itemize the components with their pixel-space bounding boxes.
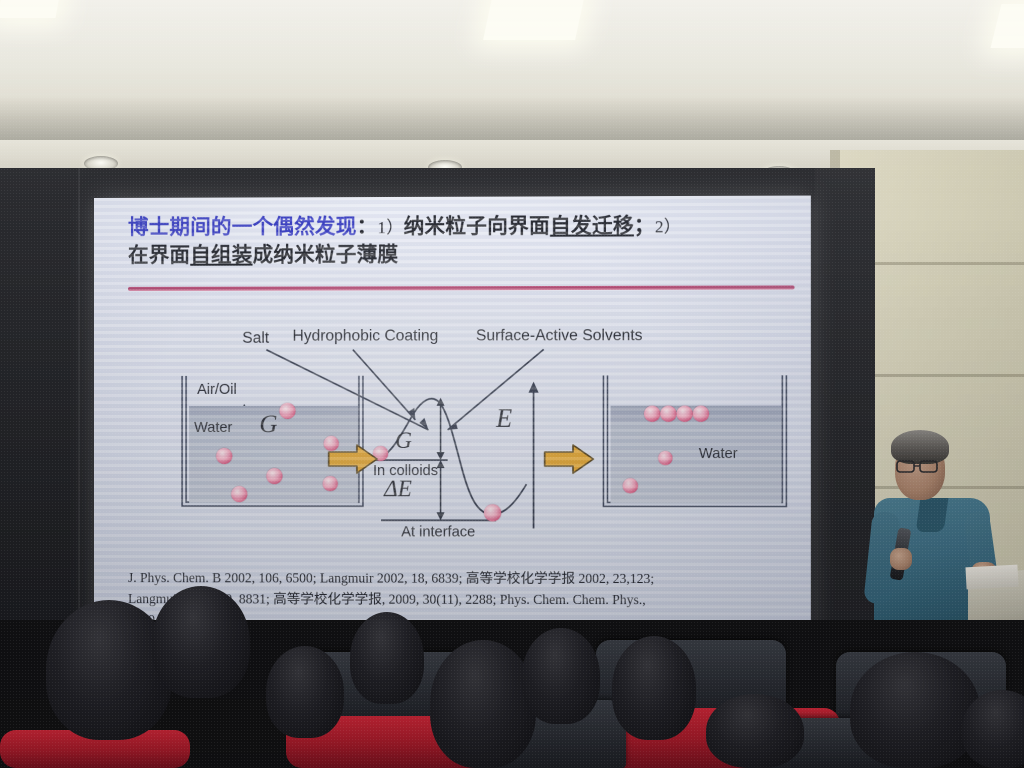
process-arrow-icon bbox=[543, 442, 596, 476]
audience-head bbox=[46, 600, 172, 740]
audience-head bbox=[706, 694, 804, 768]
nanoparticle-bulk bbox=[658, 451, 672, 465]
podium-papers bbox=[965, 565, 1018, 590]
wall-divider bbox=[78, 168, 80, 668]
audience-head bbox=[350, 612, 424, 704]
level-at-interface-label: At interface bbox=[401, 524, 475, 540]
energy-axis-arrowhead bbox=[528, 382, 538, 393]
nanoparticle bbox=[216, 448, 232, 464]
presenter-hand-holding-mic bbox=[890, 548, 912, 570]
nanoparticle-interface bbox=[660, 406, 676, 422]
glasses-icon bbox=[893, 458, 947, 474]
presenter-collar bbox=[916, 498, 949, 532]
nanoparticle bbox=[266, 468, 282, 484]
nanoparticle bbox=[231, 486, 247, 502]
audience-head bbox=[850, 652, 980, 768]
energy-axis-label: E bbox=[496, 404, 512, 434]
left-beaker-phase-top-label: Air/Oil bbox=[197, 382, 237, 398]
ceiling-panel-light bbox=[0, 0, 60, 18]
process-arrow-icon bbox=[327, 442, 379, 476]
nanoparticle bbox=[279, 403, 295, 419]
right-beaker-phase-bottom-label: Water bbox=[699, 446, 738, 462]
audience-head bbox=[266, 646, 344, 738]
left-beaker-energy-symbol: G bbox=[259, 411, 277, 439]
audience-head bbox=[152, 586, 250, 698]
left-beaker-phase-bottom-label: Water bbox=[194, 420, 232, 436]
nanoparticle-on-curve-interface bbox=[484, 504, 501, 521]
nanoparticle bbox=[323, 476, 338, 491]
nanoparticle-interface bbox=[644, 406, 660, 422]
nanoparticle-interface bbox=[677, 406, 693, 422]
audience-head bbox=[430, 640, 536, 768]
nanoparticle-interface bbox=[693, 406, 709, 422]
nanoparticle-bulk bbox=[623, 478, 638, 493]
lecture-hall-photo: 博士期间的一个偶然发现：1）纳米粒子向界面自发迁移；2） 在界面自组装成纳米粒子… bbox=[0, 0, 1024, 768]
delta-e-label: ΔE bbox=[384, 476, 412, 502]
audience-head bbox=[612, 636, 696, 740]
citation-line-1: J. Phys. Chem. B 2002, 106, 6500; Langmu… bbox=[128, 568, 801, 590]
audience-head bbox=[522, 628, 600, 724]
barrier-g-label: G bbox=[395, 428, 412, 454]
ceiling-panel-light bbox=[483, 0, 585, 40]
